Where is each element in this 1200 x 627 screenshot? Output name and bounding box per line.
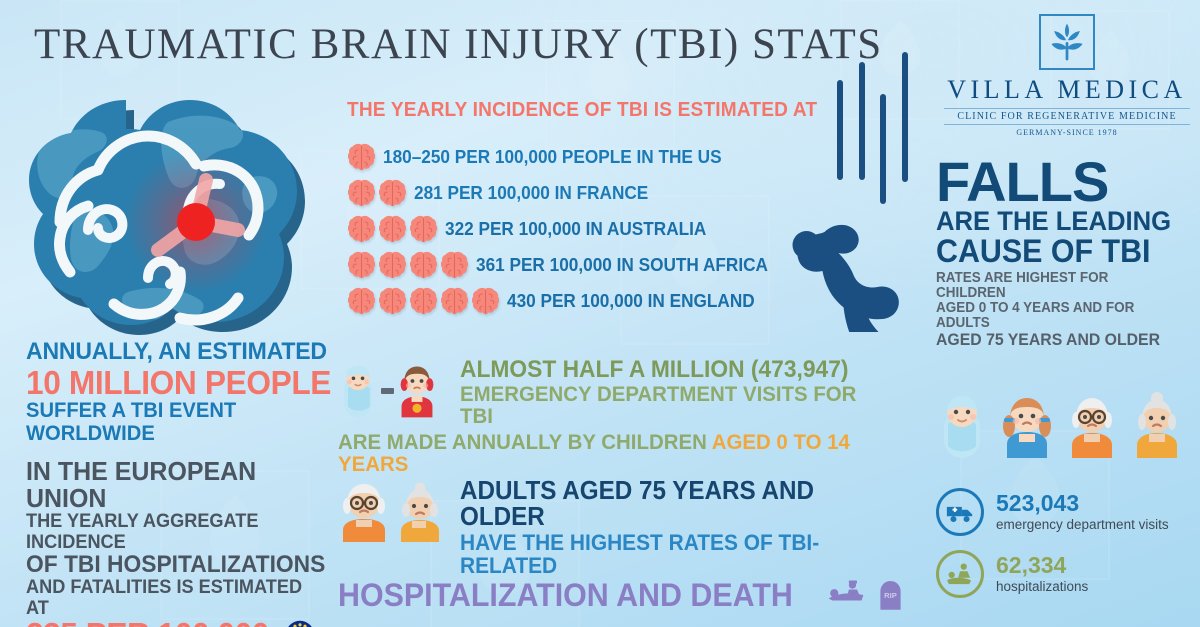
- brain-globe-illustration: [18, 82, 348, 337]
- worldwide-line-2: 10 MILLION PEOPLE: [26, 366, 333, 399]
- falls-note-3: AGED 75 YEARS AND OLDER: [936, 331, 1180, 349]
- falls-note-1: RATES ARE HIGHEST FOR CHILDREN: [936, 271, 1180, 301]
- brain-icon: [410, 287, 437, 315]
- brain-icon-group: [348, 143, 375, 171]
- brain-icon: [410, 251, 437, 279]
- brain-icon: [348, 179, 375, 207]
- brain-icon-group: [348, 179, 406, 207]
- children-ed-visits-block: ALMOST HALF A MILLION (473,947) EMERGENC…: [338, 358, 908, 476]
- eu-line-3: OF TBI HOSPITALIZATIONS: [26, 553, 330, 577]
- incidence-row-label: 430 PER 100,000 IN ENGLAND: [507, 290, 755, 312]
- brain-icon-group: [348, 215, 437, 243]
- hospital-bed-icon: [827, 580, 867, 610]
- incidence-row: 322 PER 100,000 IN AUSTRALIA: [348, 212, 726, 246]
- stat-hospitalizations: 62,334 hospitalizations: [936, 550, 1088, 598]
- eu-rate-value: 235 PER 100,000: [26, 618, 269, 627]
- stat-value: 523,043: [996, 492, 1169, 515]
- incidence-row-label: 361 PER 100,000 IN SOUTH AFRICA: [476, 254, 768, 276]
- falls-headline: FALLS: [936, 156, 1198, 208]
- falling-person-icon: [812, 52, 932, 332]
- brain-icon: [379, 215, 406, 243]
- eu-line-1: IN THE EUROPEAN UNION: [26, 458, 333, 511]
- brain-icon: [379, 179, 406, 207]
- falls-subline-2: CAUSE OF TBI: [936, 235, 1185, 268]
- swaddled-baby-icon: [338, 360, 378, 422]
- page-title: TRAUMATIC BRAIN INJURY (TBI) STATS: [34, 20, 883, 69]
- children-line-3-prefix: ARE MADE ANNUALLY BY CHILDREN: [338, 430, 712, 454]
- old-woman-icon: [1129, 390, 1185, 462]
- tombstone-rip-icon: RIP: [877, 579, 904, 610]
- impact-point-icon: [177, 203, 215, 241]
- infographic-canvas: TRAUMATIC BRAIN INJURY (TBI) STATS: [0, 0, 1200, 627]
- brain-icon: [348, 287, 375, 315]
- villa-medica-logo: VILLA MEDICA CLINIC FOR REGENERATIVE MED…: [938, 14, 1196, 137]
- patient-care-icon: [936, 550, 984, 598]
- brain-icon: [348, 215, 375, 243]
- worldwide-line-3: SUFFER A TBI EVENT WORLDWIDE: [26, 399, 333, 445]
- children-line-1: ALMOST HALF A MILLION (473,947): [460, 358, 886, 383]
- stat-value: 62,334: [996, 554, 1088, 577]
- stat-ed-visits: 523,043 emergency department visits: [936, 488, 1169, 536]
- logo-tagline: CLINIC FOR REGENERATIVE MEDICINE: [944, 108, 1190, 125]
- brain-icon: [441, 251, 468, 279]
- brain-icon: [441, 287, 468, 315]
- old-man-icon: [1064, 390, 1120, 462]
- incidence-row-label: 281 PER 100,000 IN FRANCE: [414, 182, 648, 204]
- brain-icon: [379, 287, 406, 315]
- range-dash: [381, 388, 394, 394]
- brain-icon: [472, 287, 499, 315]
- children-line-2: EMERGENCY DEPARTMENT VISITS FOR TBI: [460, 383, 886, 428]
- incidence-row: 281 PER 100,000 IN FRANCE: [348, 176, 666, 210]
- logo-name: VILLA MEDICA: [938, 75, 1196, 105]
- stat-label: hospitalizations: [996, 579, 1088, 595]
- incidence-row-label: 180–250 PER 100,000 PEOPLE IN THE US: [383, 146, 722, 168]
- children-line-3: ARE MADE ANNUALLY BY CHILDREN AGED 0 TO …: [338, 431, 880, 476]
- stat-label: emergency department visits: [996, 517, 1169, 533]
- logo-since: GERMANY-SINCE 1978: [938, 128, 1196, 137]
- svg-text:RIP: RIP: [884, 591, 897, 600]
- brain-icon-group: [348, 287, 499, 315]
- age-group-people-icons: [934, 390, 1200, 462]
- old-woman-icon: [394, 478, 446, 544]
- incidence-row: 180–250 PER 100,000 PEOPLE IN THE US: [348, 140, 747, 174]
- incidence-row-label: 322 PER 100,000 IN AUSTRALIA: [445, 218, 706, 240]
- leaf-flower-icon: [1039, 14, 1095, 70]
- old-man-icon: [338, 478, 390, 544]
- falls-note-2: AGED 0 TO 4 YEARS AND FOR ADULTS: [936, 301, 1180, 331]
- brain-icon: [410, 215, 437, 243]
- incidence-heading: THE YEARLY INCIDENCE OF TBI IS ESTIMATED…: [347, 98, 817, 122]
- boy-icon: [397, 360, 437, 422]
- swaddled-baby-icon: [934, 390, 990, 462]
- elders-block: ADULTS AGED 75 YEARS AND OLDER HAVE THE …: [338, 478, 918, 611]
- incidence-row: 430 PER 100,000 IN ENGLAND: [348, 284, 773, 318]
- eu-line-2: THE YEARLY AGGREGATE INCIDENCE: [26, 511, 324, 552]
- elders-line-1: ADULTS AGED 75 YEARS AND OLDER: [460, 478, 895, 531]
- brain-icon: [379, 251, 406, 279]
- elders-line-3: HOSPITALIZATION AND DEATH: [338, 579, 793, 611]
- eu-line-4: AND FATALITIES IS ESTIMATED AT: [26, 577, 324, 618]
- girl-icon: [999, 390, 1055, 462]
- falls-subline-1: ARE THE LEADING: [936, 208, 1185, 235]
- worldwide-eu-block: ANNUALLY, AN ESTIMATED 10 MILLION PEOPLE…: [26, 338, 346, 627]
- falls-panel: FALLS ARE THE LEADING CAUSE OF TBI RATES…: [936, 156, 1198, 348]
- elders-line-2: HAVE THE HIGHEST RATES OF TBI-RELATED: [460, 531, 895, 577]
- eu-flag-icon: [285, 620, 315, 627]
- brain-icon-group: [348, 251, 468, 279]
- brain-icon: [348, 143, 375, 171]
- brain-icon: [348, 251, 375, 279]
- worldwide-line-1: ANNUALLY, AN ESTIMATED: [26, 338, 333, 366]
- ambulance-icon: [936, 488, 984, 536]
- incidence-row: 361 PER 100,000 IN SOUTH AFRICA: [348, 248, 790, 282]
